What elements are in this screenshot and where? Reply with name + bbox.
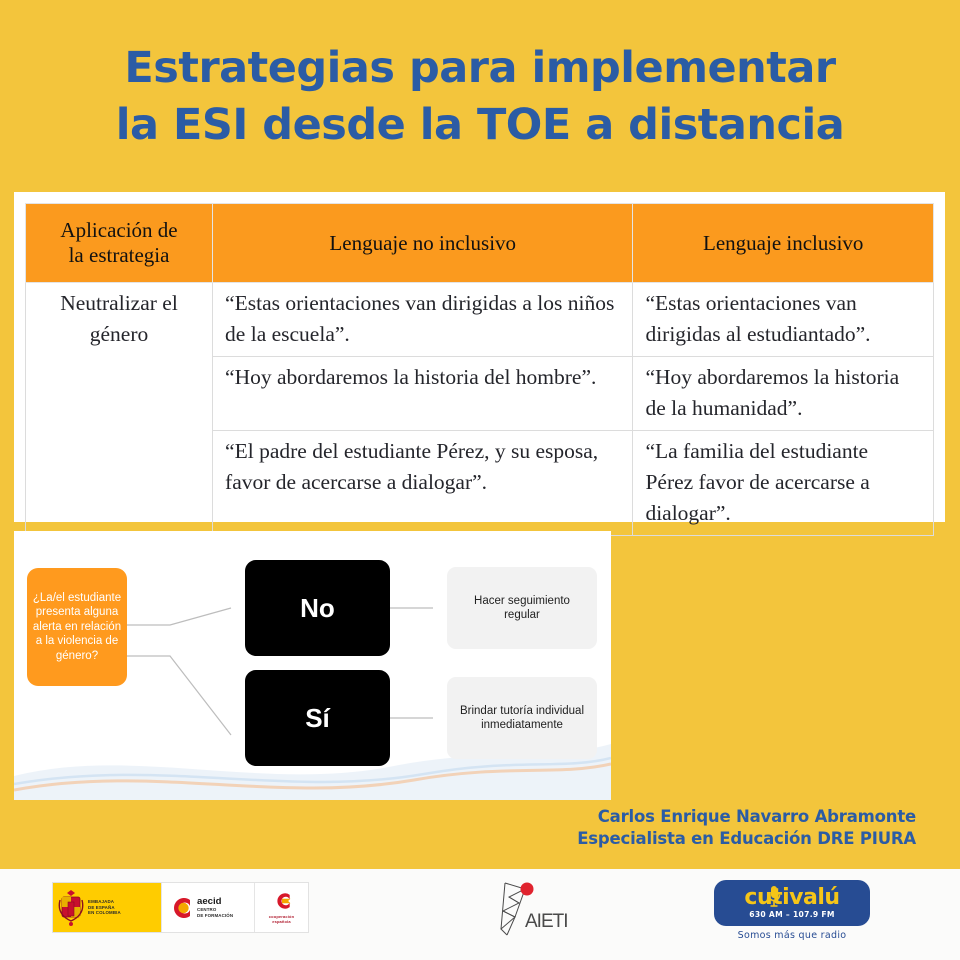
flowchart-question-node[interactable]: ¿La/el estudiante presenta alguna alerta…: [27, 568, 127, 686]
logo-cooperacion-espanola: cooperación española: [254, 883, 308, 932]
logo-aecid: aecid CENTRO DE FORMACIÓN: [161, 883, 254, 932]
cutivalu-badge: cutivalú 630 AM – 107.9 FM: [714, 880, 870, 926]
cooperacion-c-icon: [271, 891, 293, 911]
aieti-red-dot-icon: [521, 883, 534, 896]
flowchart-outcome-seguimiento[interactable]: Hacer seguimiento regular: [447, 567, 597, 649]
table-header-aplicacion-line2: la estrategia: [32, 243, 206, 268]
logo-cutivalu: cutivalú 630 AM – 107.9 FM Somos más que…: [714, 880, 870, 946]
logo-cooperacion-text: cooperación española: [269, 914, 294, 924]
table-header-aplicacion-line1: Aplicación de: [32, 218, 206, 243]
strategy-table-panel: Aplicación de la estrategia Lenguaje no …: [14, 192, 945, 522]
logo-cooperacion-line2: española: [269, 919, 294, 924]
logo-cutivalu-tagline: Somos más que radio: [714, 930, 870, 941]
title-line-2: la ESI desde la TOE a distancia: [0, 97, 960, 154]
flowchart-branch-no[interactable]: No: [245, 560, 390, 656]
flowchart-branch-si[interactable]: Sí: [245, 670, 390, 766]
credits-role: Especialista en Educación DRE PIURA: [577, 828, 916, 850]
table-cell-inclusivo-3: “La familia del estudiante Pérez favor d…: [633, 431, 934, 536]
table-row: Neutralizar el género “Estas orientacion…: [26, 283, 934, 357]
flowchart-outcome-seguimiento-label: Hacer seguimiento regular: [455, 594, 589, 623]
footer-logo-bar: EMBAJADA DE ESPAÑA EN COLOMBIA aecid CEN…: [0, 869, 960, 960]
spain-coat-of-arms-icon: [58, 888, 84, 928]
logo-embajada-espana-colombia: EMBAJADA DE ESPAÑA EN COLOMBIA: [53, 883, 161, 932]
table-header-lenguaje-no-inclusivo: Lenguaje no inclusivo: [213, 204, 633, 283]
flowchart-branch-no-label: No: [300, 593, 335, 624]
logo-embajada-text: EMBAJADA DE ESPAÑA EN COLOMBIA: [88, 899, 121, 916]
aecid-c-icon: [167, 895, 193, 921]
table-cell-inclusivo-2: “Hoy abordaremos la historia de la human…: [633, 357, 934, 431]
logo-aecid-wordmark: aecid: [197, 897, 233, 907]
flowchart-outcome-tutoria-label: Brindar tutoría individual inmediatament…: [455, 704, 589, 733]
credits-name: Carlos Enrique Navarro Abramonte: [577, 806, 916, 828]
logo-aecid-text: aecid CENTRO DE FORMACIÓN: [197, 897, 233, 918]
credits-block: Carlos Enrique Navarro Abramonte Especia…: [577, 806, 916, 850]
logo-aieti: AIETI: [485, 877, 581, 939]
flowchart-branch-si-label: Sí: [305, 703, 330, 734]
logo-aieti-wordmark: AIETI: [525, 911, 568, 932]
strategy-table: Aplicación de la estrategia Lenguaje no …: [25, 203, 934, 536]
title-line-1: Estrategias para implementar: [0, 40, 960, 97]
flowchart-outcome-tutoria[interactable]: Brindar tutoría individual inmediatament…: [447, 677, 597, 759]
table-cell-no-inclusivo-3: “El padre del estudiante Pérez, y su esp…: [213, 431, 633, 536]
flowchart-question-label: ¿La/el estudiante presenta alguna alerta…: [32, 591, 122, 664]
table-header-aplicacion: Aplicación de la estrategia: [26, 204, 213, 283]
logo-embajada-line3: EN COLOMBIA: [88, 910, 121, 916]
table-cell-inclusivo-1: “Estas orientaciones van dirigidas al es…: [633, 283, 934, 357]
logo-cutivalu-frequency: 630 AM – 107.9 FM: [749, 910, 835, 919]
table-cell-category: Neutralizar el género: [26, 283, 213, 536]
table-cell-no-inclusivo-1: “Estas orientaciones van dirigidas a los…: [213, 283, 633, 357]
logo-aecid-line2: DE FORMACIÓN: [197, 913, 233, 919]
table-cell-no-inclusivo-2: “Hoy abordaremos la historia del hombre”…: [213, 357, 633, 431]
microphone-icon: [767, 885, 781, 911]
table-header-row: Aplicación de la estrategia Lenguaje no …: [26, 204, 934, 283]
table-header-lenguaje-inclusivo: Lenguaje inclusivo: [633, 204, 934, 283]
page-title: Estrategias para implementar la ESI desd…: [0, 40, 960, 154]
logo-cutivalu-wordmark: cutivalú: [744, 887, 839, 909]
logo-spain-group: EMBAJADA DE ESPAÑA EN COLOMBIA aecid CEN…: [52, 882, 309, 933]
